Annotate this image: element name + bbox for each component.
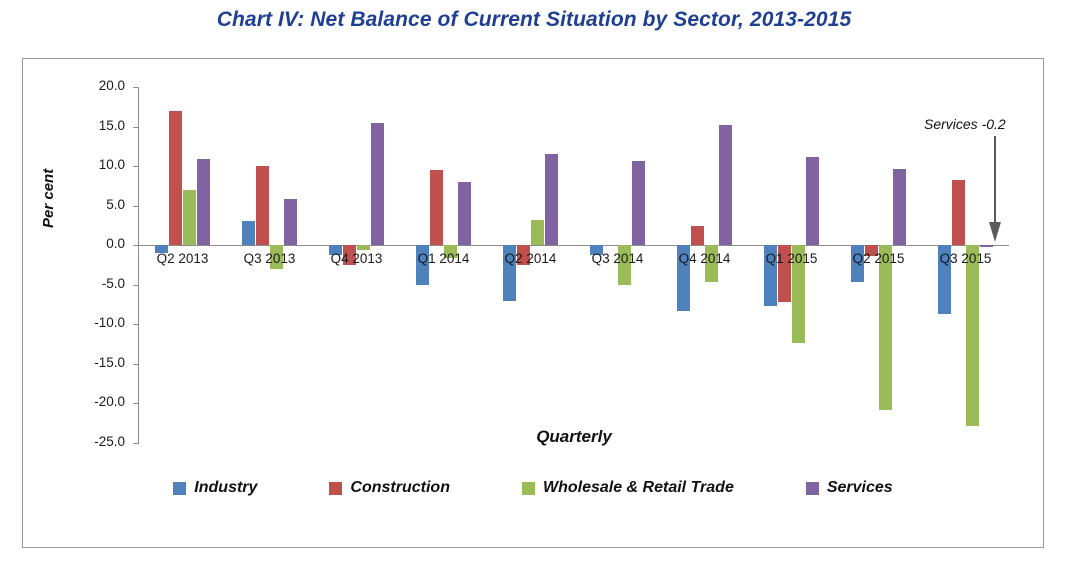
chart-bar	[879, 245, 892, 410]
chart-bar	[357, 245, 370, 250]
y-axis-tick-label: -25.0	[69, 434, 125, 449]
legend-item[interactable]: Construction	[329, 479, 450, 497]
chart-bar	[893, 169, 906, 245]
y-axis-tick-label: 15.0	[69, 118, 125, 133]
x-axis-category-label: Q4 2013	[313, 251, 400, 266]
chart-bar	[632, 161, 645, 245]
chart-bar	[169, 111, 182, 245]
legend-item[interactable]: Industry	[173, 479, 257, 497]
chart-title: Chart IV: Net Balance of Current Situati…	[0, 8, 1068, 32]
annotation-arrow-icon	[988, 136, 1002, 244]
chart-bar	[952, 180, 965, 246]
legend-label: Construction	[350, 479, 450, 497]
legend-swatch-icon	[173, 482, 186, 495]
x-axis-category-label: Q1 2014	[400, 251, 487, 266]
x-axis-category-label: Q4 2014	[661, 251, 748, 266]
x-axis-category-label: Q3 2015	[922, 251, 1009, 266]
chart-bar	[242, 221, 255, 245]
legend-swatch-icon	[329, 482, 342, 495]
chart-bar	[966, 245, 979, 426]
x-axis-category-label: Q1 2015	[748, 251, 835, 266]
chart-bar	[531, 220, 544, 245]
chart-bar	[691, 226, 704, 245]
chart-bar	[256, 166, 269, 245]
chart-bar	[430, 170, 443, 245]
chart-bar	[719, 125, 732, 245]
x-axis-category-label: Q2 2015	[835, 251, 922, 266]
x-axis-category-label: Q2 2013	[139, 251, 226, 266]
chart-bar	[284, 199, 297, 246]
chart-bar	[545, 154, 558, 245]
chart-bar	[458, 182, 471, 245]
y-axis-tick-label: -10.0	[69, 315, 125, 330]
chart-plot-area: Q2 2013Q3 2013Q4 2013Q1 2014Q2 2014Q3 20…	[139, 87, 1009, 443]
y-axis-tick-label: 20.0	[69, 78, 125, 93]
chart-bar	[183, 190, 196, 245]
x-axis-category-label: Q2 2014	[487, 251, 574, 266]
legend-item[interactable]: Services	[806, 479, 893, 497]
chart-bar	[371, 123, 384, 245]
legend-label: Wholesale & Retail Trade	[543, 479, 734, 497]
chart-bar	[197, 159, 210, 245]
chart-legend: IndustryConstructionWholesale & Retail T…	[22, 472, 1044, 504]
y-axis-title: Per cent	[40, 169, 57, 228]
annotation-label: Services -0.2	[924, 116, 1006, 132]
legend-swatch-icon	[806, 482, 819, 495]
chart-bar	[806, 157, 819, 245]
x-axis-category-label: Q3 2014	[574, 251, 661, 266]
y-axis-tick-label: 0.0	[69, 236, 125, 251]
legend-label: Services	[827, 479, 893, 497]
chart-bar	[980, 245, 993, 247]
y-axis-tick-label: 5.0	[69, 197, 125, 212]
y-axis-tick-label: -15.0	[69, 355, 125, 370]
y-axis-tick-label: -5.0	[69, 276, 125, 291]
legend-item[interactable]: Wholesale & Retail Trade	[522, 479, 734, 497]
x-axis-category-label: Q3 2013	[226, 251, 313, 266]
x-axis-title: Quarterly	[139, 427, 1009, 447]
y-axis-tick-label: 10.0	[69, 157, 125, 172]
legend-label: Industry	[194, 479, 257, 497]
y-axis-tick-label: -20.0	[69, 394, 125, 409]
chart-figure: Chart IV: Net Balance of Current Situati…	[0, 0, 1068, 569]
legend-swatch-icon	[522, 482, 535, 495]
